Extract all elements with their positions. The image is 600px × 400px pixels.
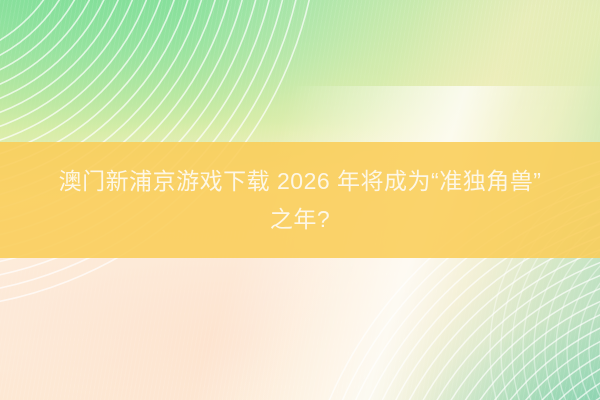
title-line-1: 澳门新浦京游戏下载 2026 年将成为“准独角兽” xyxy=(59,162,542,200)
title-line-2: 之年? xyxy=(270,200,330,238)
title-band: 澳门新浦京游戏下载 2026 年将成为“准独角兽” 之年? xyxy=(0,142,600,258)
article-cover-banner: 澳门新浦京游戏下载 2026 年将成为“准独角兽” 之年? xyxy=(0,0,600,400)
